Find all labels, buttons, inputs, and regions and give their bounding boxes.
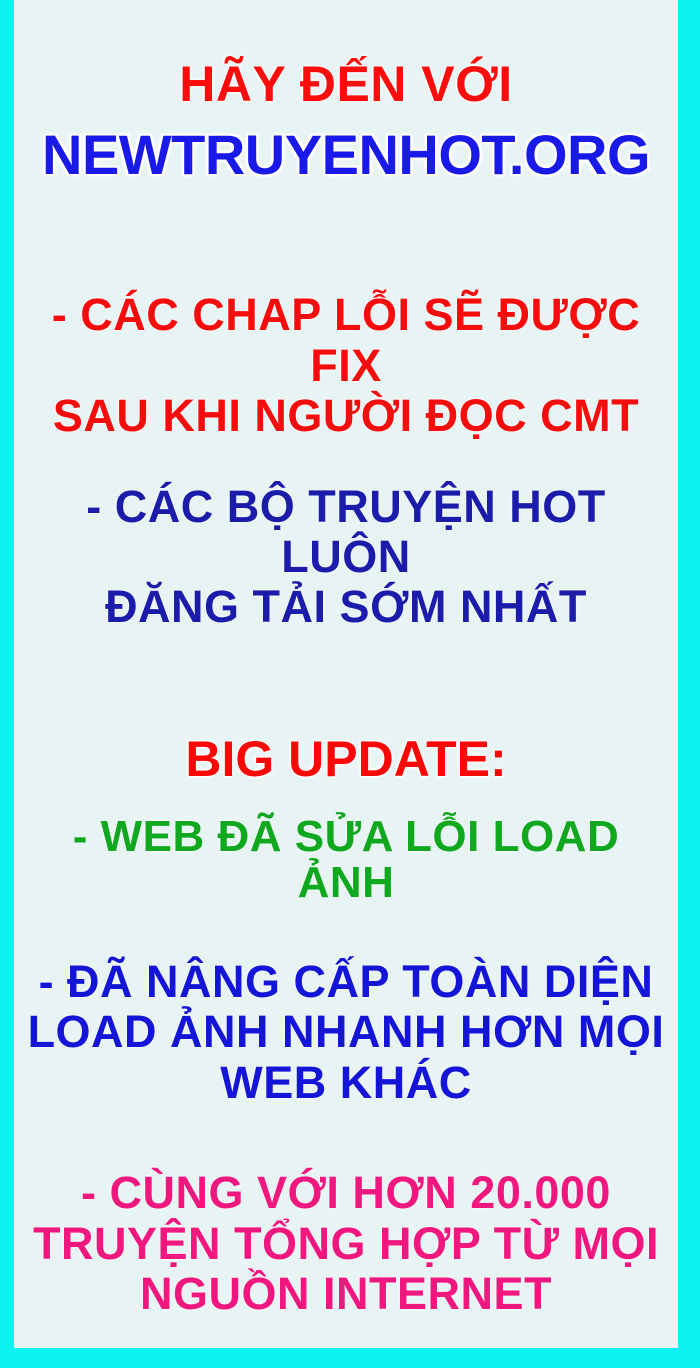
banner-content-area: HÃY ĐẾN VỚI NEWTRUYENHOT.ORG - CÁC CHAP … xyxy=(14,0,678,1348)
headline-text: HÃY ĐẾN VỚI xyxy=(14,58,678,111)
note-hot-series: - CÁC BỘ TRUYỆN HOT LUÔN ĐĂNG TẢI SỚM NH… xyxy=(14,482,678,633)
cyan-border-right xyxy=(678,0,700,1348)
note-chapter-fix: - CÁC CHAP LỖI SẼ ĐƯỢC FIX SAU KHI NGƯỜI… xyxy=(14,290,678,441)
cyan-border-bottom xyxy=(0,1348,700,1368)
announcement-banner: HÃY ĐẾN VỚI NEWTRUYENHOT.ORG - CÁC CHAP … xyxy=(0,0,700,1368)
note-image-load-fixed: - WEB ĐÃ SỬA LỖI LOAD ẢNH xyxy=(14,814,678,907)
cyan-border-left xyxy=(0,0,14,1348)
big-update-heading: BIG UPDATE: xyxy=(14,733,678,786)
site-url-text[interactable]: NEWTRUYENHOT.ORG xyxy=(14,125,678,184)
note-full-upgrade: - ĐÃ NÂNG CẤP TOÀN DIỆN LOAD ẢNH NHANH H… xyxy=(14,957,678,1108)
note-story-count: - CÙNG VỚI HƠN 20.000 TRUYỆN TỔNG HỢP TỪ… xyxy=(14,1168,678,1319)
